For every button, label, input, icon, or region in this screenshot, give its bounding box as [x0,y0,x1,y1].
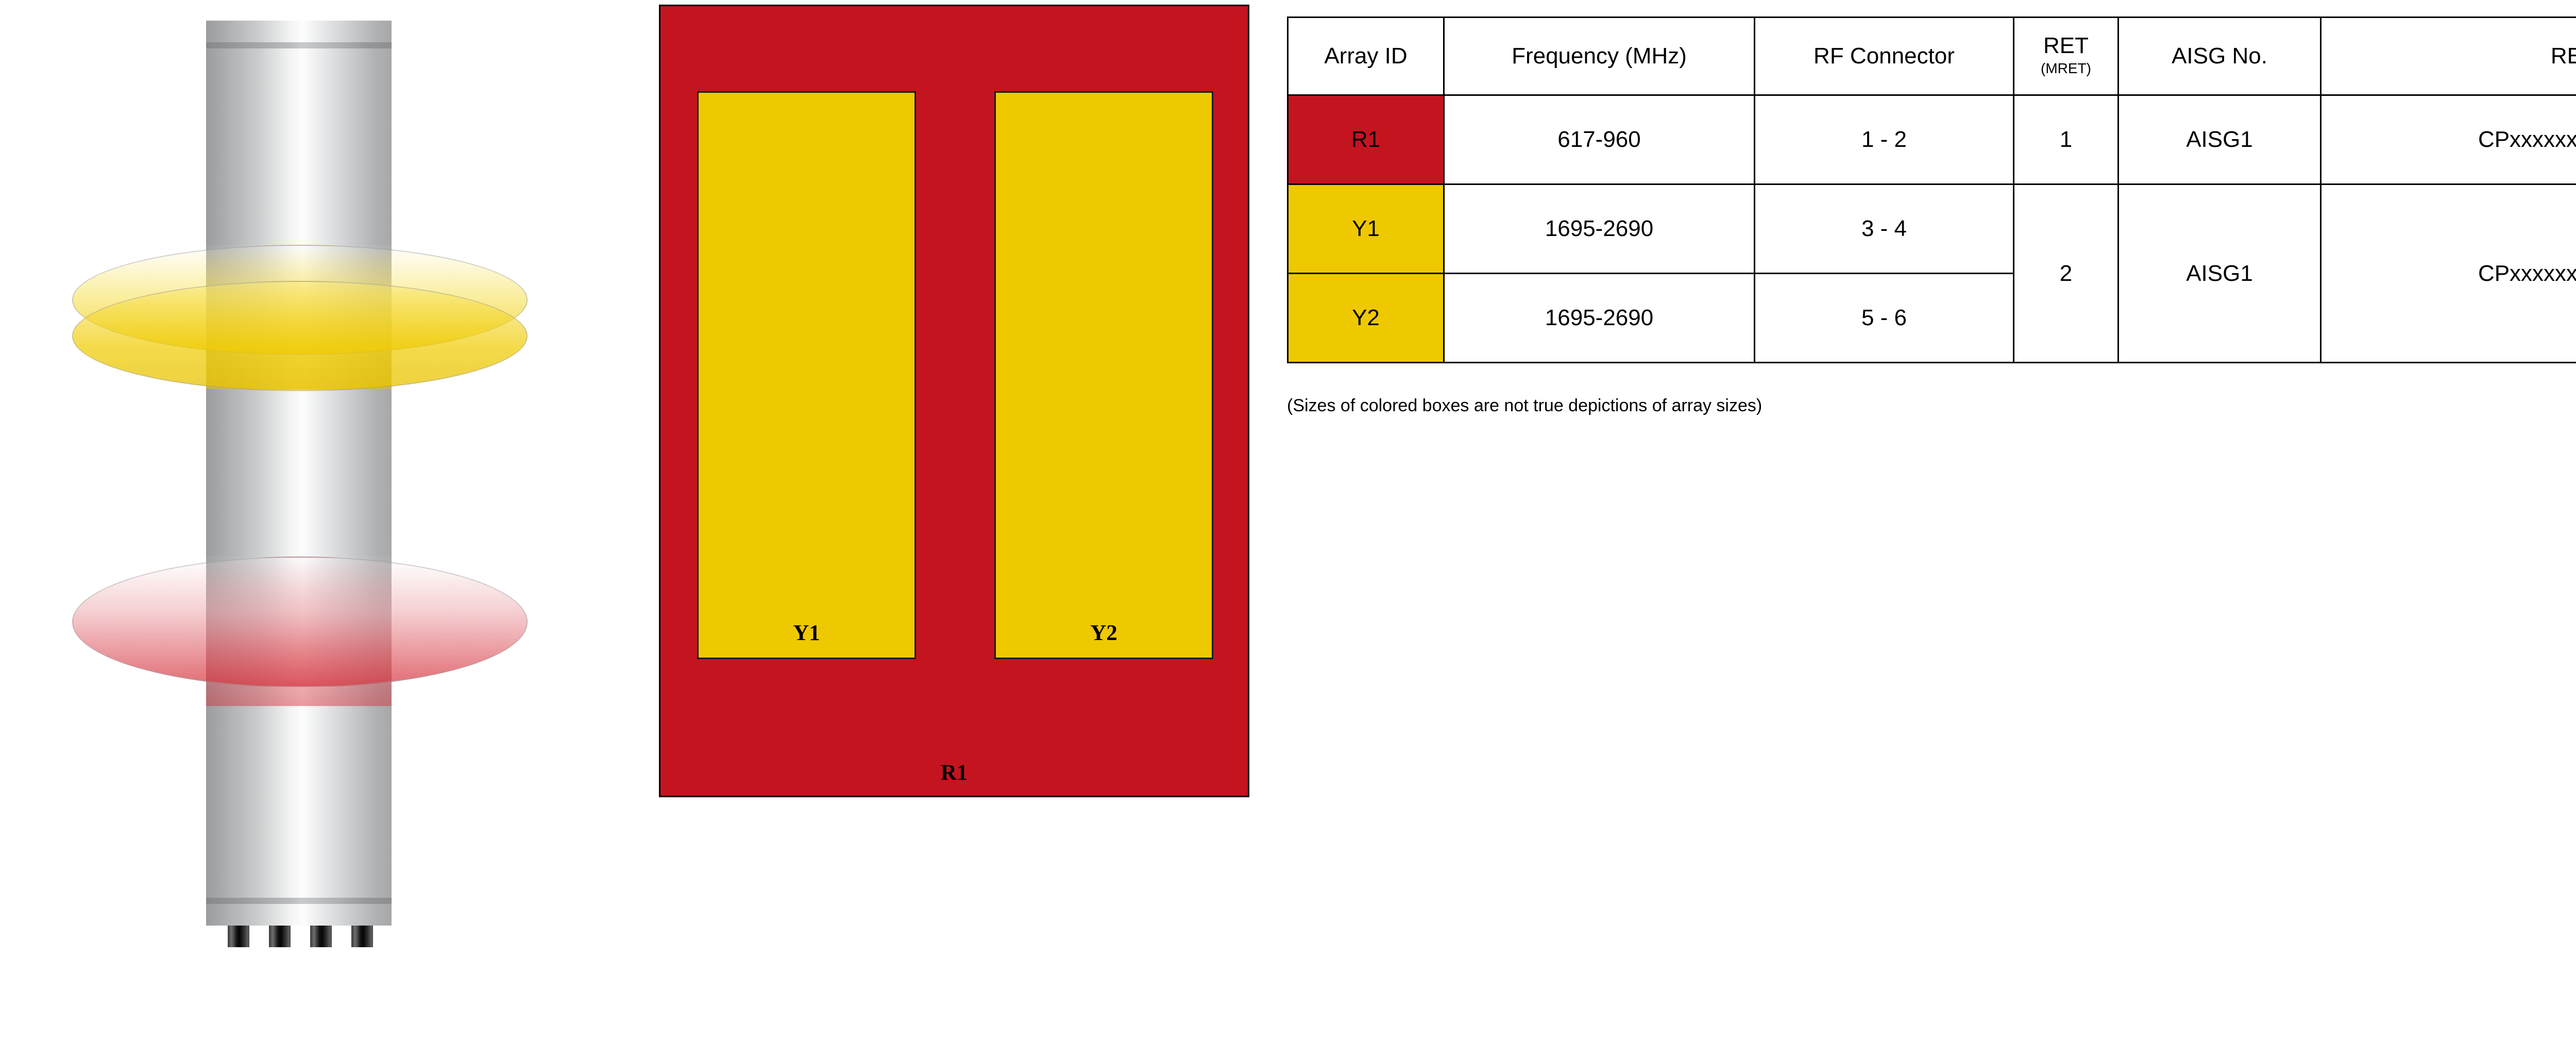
cell-frequency-y2: 1695-2690 [1444,274,1755,363]
radome-cylinder-body [206,48,392,898]
column-header-ret-sub: (MRET) [2014,58,2117,78]
array-y1-region: Y1 [697,91,916,659]
cell-aisg-r1: AISG1 [2119,95,2321,184]
cell-frequency-r1: 617-960 [1444,95,1755,184]
red-beam-disc [72,557,528,687]
antenna-illustration [0,0,618,1041]
cell-aisg-y-group: AISG1 [2119,184,2321,363]
table-header: Array ID Frequency (MHz) RF Connector RE… [1288,18,2576,95]
connector-pin-icon [228,926,249,947]
cell-array-id-y2: Y2 [1288,274,1444,363]
array-r1-label: R1 [660,760,1248,785]
cell-ret-y-group: 2 [2014,184,2119,363]
table-footnote: (Sizes of colored boxes are not true dep… [1287,395,2576,416]
specification-panel: Array ID Frequency (MHz) RF Connector RE… [1287,16,2576,416]
cell-ret-r1: 1 [2014,95,2119,184]
column-header-ret-main: RET [2014,34,2117,58]
array-y2-label: Y2 [1090,622,1117,644]
cell-array-id-r1: R1 [1288,95,1444,184]
array-y2-region: Y2 [994,91,1213,659]
table-row: Y1 1695-2690 3 - 4 2 AISG1 CPxxxxxxxxxxx… [1288,184,2576,274]
column-header-ret-uid: RET UID [2321,18,2576,95]
column-header-aisg-no: AISG No. [2119,18,2321,95]
array-r1-region: Y1 Y2 R1 [660,6,1248,796]
connector-pin-icon [310,926,332,947]
table-header-row: Array ID Frequency (MHz) RF Connector RE… [1288,18,2576,95]
yellow-beam-disc-lower [72,281,528,391]
specification-table: Array ID Frequency (MHz) RF Connector RE… [1287,16,2576,363]
radome-bottom-seam-band [206,898,392,904]
column-header-rf-connector: RF Connector [1755,18,2014,95]
column-header-frequency: Frequency (MHz) [1444,18,1755,95]
cell-array-id-y1: Y1 [1288,184,1444,274]
array-y1-label: Y1 [793,622,820,644]
connector-pin-icon [269,926,291,947]
cell-rf-connector-r1: 1 - 2 [1755,95,2014,184]
radome-cylinder-base-segment [206,904,392,926]
array-schematic: Y1 Y2 R1 [659,5,1249,797]
table-row: R1 617-960 1 - 2 1 AISG1 CPxxxxxxxxxxxxx… [1288,95,2576,184]
cell-rf-connector-y1: 3 - 4 [1755,184,2014,274]
connector-pin-icon [351,926,373,947]
table-body: R1 617-960 1 - 2 1 AISG1 CPxxxxxxxxxxxxx… [1288,95,2576,363]
radome-top-seam-band [206,42,392,48]
cell-frequency-y1: 1695-2690 [1444,184,1755,274]
column-header-array-id: Array ID [1288,18,1444,95]
radome-cylinder-top-segment [206,21,392,42]
column-header-ret: RET (MRET) [2014,18,2119,95]
cell-ret-uid-y-group: CPxxxxxxxxxxxxxMM.2 [2321,184,2576,363]
cell-ret-uid-r1: CPxxxxxxxxxxxxxMM.1 [2321,95,2576,184]
cell-rf-connector-y2: 5 - 6 [1755,274,2014,363]
